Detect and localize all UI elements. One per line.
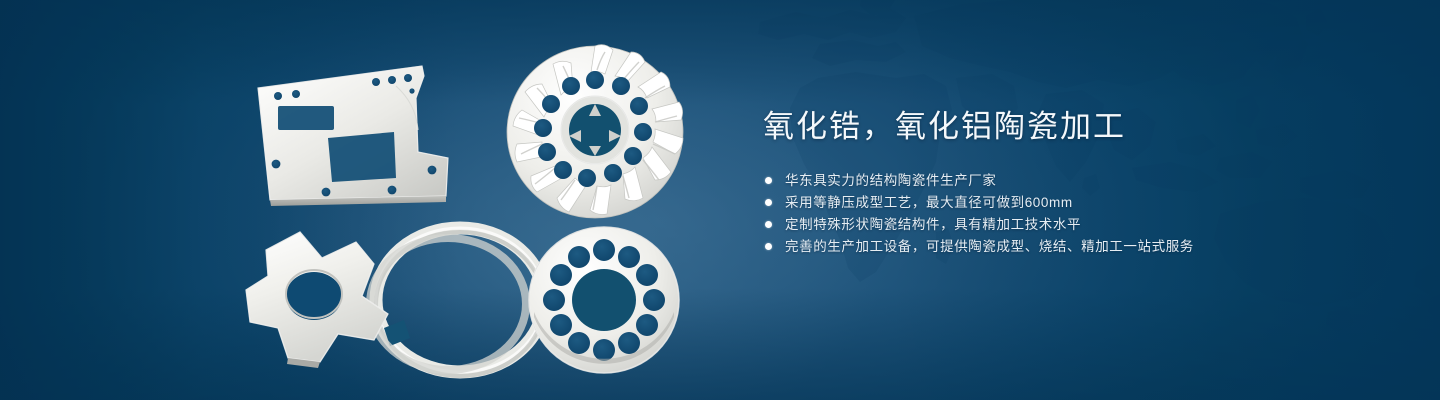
feature-text: 采用等静压成型工艺，最大直径可做到600mm: [785, 192, 1073, 214]
list-item: 完善的生产加工设备，可提供陶瓷成型、烧结、精加工一站式服务: [765, 236, 1383, 258]
ceramic-impeller-disc: [507, 45, 683, 218]
feature-text: 完善的生产加工设备，可提供陶瓷成型、烧结、精加工一站式服务: [785, 236, 1194, 258]
bullet-dot-icon: [765, 177, 772, 184]
ceramic-ring-secondary: [370, 238, 526, 370]
feature-text: 定制特殊形状陶瓷结构件，具有精加工技术水平: [785, 214, 1081, 236]
feature-list: 华东具实力的结构陶瓷件生产厂家 采用等静压成型工艺，最大直径可做到600mm 定…: [765, 170, 1383, 258]
bullet-dot-icon: [765, 221, 772, 228]
list-item: 定制特殊形状陶瓷结构件，具有精加工技术水平: [765, 214, 1383, 236]
banner-copy: 氧化锆，氧化铝陶瓷加工 华东具实力的结构陶瓷件生产厂家 采用等静压成型工艺，最大…: [763, 108, 1383, 273]
ceramic-machined-plate: [258, 66, 448, 206]
hero-banner: 氧化锆，氧化铝陶瓷加工 华东具实力的结构陶瓷件生产厂家 采用等静压成型工艺，最大…: [0, 0, 1440, 400]
list-item: 华东具实力的结构陶瓷件生产厂家: [765, 170, 1383, 192]
product-photo-collage: [210, 28, 730, 380]
ceramic-perforated-disc: [529, 227, 679, 373]
feature-text: 华东具实力的结构陶瓷件生产厂家: [785, 170, 997, 192]
ceramic-cross-plate: [246, 232, 388, 368]
page-title: 氧化锆，氧化铝陶瓷加工: [763, 108, 1383, 146]
list-item: 采用等静压成型工艺，最大直径可做到600mm: [765, 192, 1383, 214]
bullet-dot-icon: [765, 243, 772, 250]
bullet-dot-icon: [765, 199, 772, 206]
